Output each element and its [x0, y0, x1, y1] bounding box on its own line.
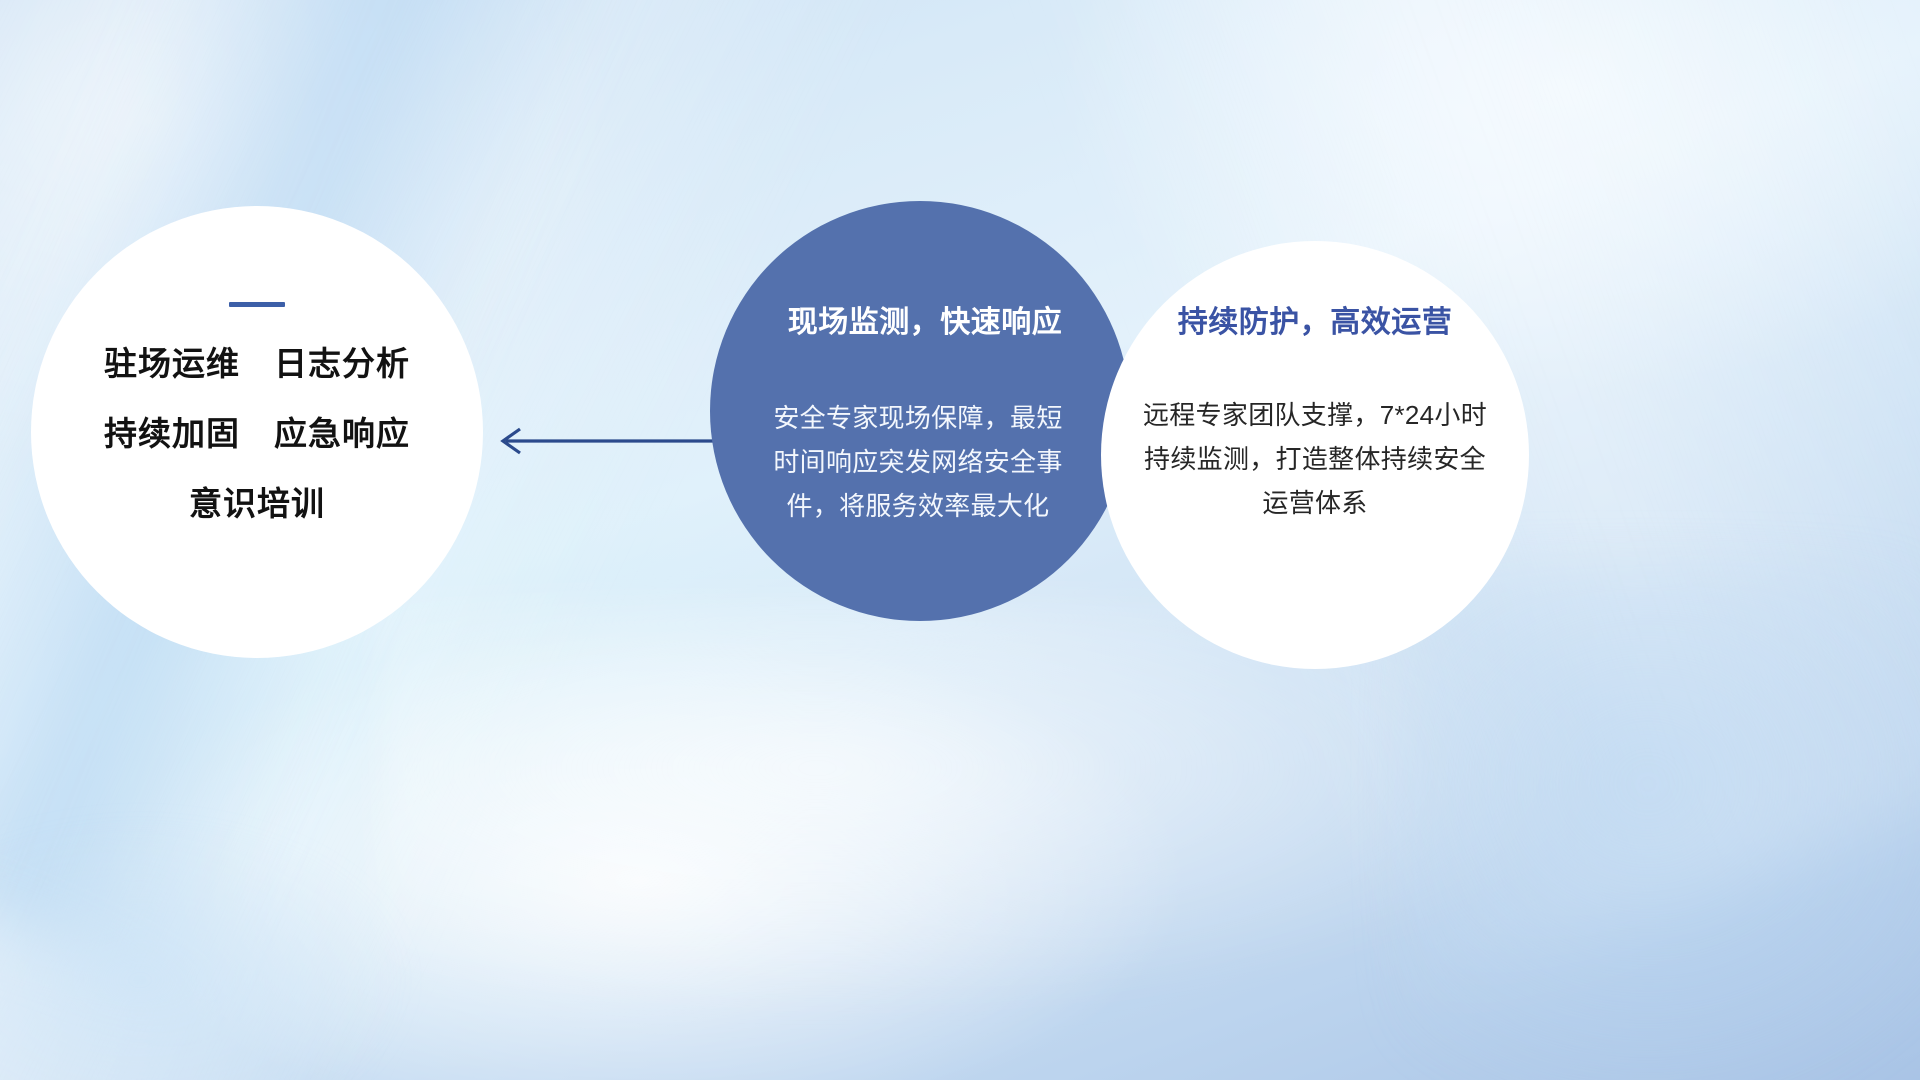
left-circle-line-2: 持续加固 应急响应 — [31, 417, 483, 450]
mid-circle-title: 现场监测，快速响应 — [760, 297, 1090, 341]
left-circle-line-3: 意识培训 — [31, 487, 483, 520]
left-circle-line-1: 驻场运维 日志分析 — [31, 347, 483, 380]
background-glow-bottom-left — [0, 830, 400, 1080]
flow-arrow-left-icon — [490, 420, 720, 462]
right-circle-body: 远程专家团队支撑，7*24小时持续监测，打造整体持续安全运营体系 — [1131, 393, 1499, 525]
dash-accent-icon — [229, 302, 285, 307]
right-continuous-protection-circle: 持续防护，高效运营 远程专家团队支撑，7*24小时持续监测，打造整体持续安全运营… — [1101, 241, 1529, 669]
mid-circle-body: 安全专家现场保障，最短时间响应突发网络安全事件，将服务效率最大化 — [768, 396, 1068, 528]
right-circle-title: 持续防护，高效运营 — [1135, 297, 1495, 341]
mid-onsite-monitoring-circle: 现场监测，快速响应 安全专家现场保障，最短时间响应突发网络安全事件，将服务效率最… — [710, 201, 1130, 621]
background-glow-bottom-center — [380, 600, 1630, 1020]
slide-canvas: 驻场运维 日志分析 持续加固 应急响应 意识培训 现场监测，快速响应 安全专家现… — [0, 0, 1920, 1080]
left-circle-content: 驻场运维 日志分析 持续加固 应急响应 意识培训 — [31, 302, 483, 520]
left-capability-circle: 驻场运维 日志分析 持续加固 应急响应 意识培训 — [31, 206, 483, 658]
background-glow-bottom-right — [1400, 560, 1920, 1080]
